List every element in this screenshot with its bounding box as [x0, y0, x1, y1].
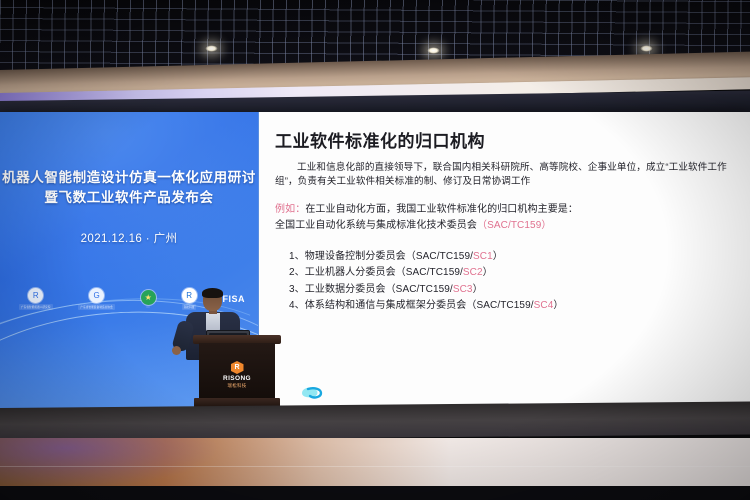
- list-item: 2、工业机器人分委员会（SAC/TC159/SC2）: [289, 265, 736, 281]
- slide-title: 工业软件标准化的归口机构: [275, 127, 736, 152]
- list-name: 工业机器人分委员会: [305, 267, 396, 278]
- list-index: 2、: [289, 267, 305, 278]
- event-title-line2: 暨飞数工业软件产品发布会: [0, 188, 258, 208]
- slide-paragraph: 工业和信息化部的直接领导下，联合国内相关科研院所、高等院校、企事业单位，成立“工…: [275, 161, 736, 189]
- list-code-suffix: ）: [473, 284, 483, 295]
- podium-brand-name: RISONG: [223, 375, 251, 382]
- example-line2-code: （SAC/TC159）: [477, 220, 551, 231]
- presentation-slide: 工业软件标准化的归口机构 工业和信息化部的直接领导下，联合国内相关科研院所、高等…: [258, 112, 750, 412]
- list-item: 1、物理设备控制分委员会（SAC/TC159/SC1）: [289, 249, 736, 265]
- list-code-accent: SC4: [534, 300, 554, 311]
- list-code-accent: SC2: [463, 267, 483, 278]
- stage-foreground-shadow: [0, 486, 750, 500]
- podium-brand: R RISONG 瑞松科技: [223, 361, 251, 389]
- stage-floor-seam: [0, 466, 750, 467]
- stage-floor-light: [0, 438, 220, 488]
- sponsor-caption: 广东省智能装备制造业协会: [78, 304, 114, 310]
- event-title-block: 机器人智能制造设计仿真一体化应用研讨 暨飞数工业软件产品发布会: [0, 168, 258, 208]
- robot-institute-icon: R: [28, 288, 43, 303]
- conference-hall-scene: 机器人智能制造设计仿真一体化应用研讨 暨飞数工业软件产品发布会 2021.12.…: [0, 0, 750, 500]
- list-code-prefix: （SAC/TC159/: [386, 284, 453, 295]
- green-emblem-icon: ★: [141, 290, 156, 305]
- presenter-hair: [202, 288, 223, 298]
- list-code-accent: SC3: [453, 284, 473, 295]
- sponsor-caption: [146, 306, 150, 308]
- list-code-prefix: （SAC/TC159/: [396, 267, 463, 278]
- list-code-prefix: （SAC/TC159/: [466, 300, 533, 311]
- sponsor-logo-item: R 广东省智能机器人研究院: [19, 288, 53, 310]
- list-name: 体系结构和通信与集成框架分委员会: [305, 300, 467, 311]
- list-index: 4、: [289, 300, 305, 311]
- example-line1: 在工业自动化方面，我国工业软件标准化的归口机构主要是：: [305, 204, 578, 215]
- risong-hex-logo-icon: R: [230, 361, 243, 374]
- list-name: 物理设备控制分委员会: [305, 251, 406, 262]
- list-name: 工业数据分委员会: [305, 284, 386, 295]
- podium-brand-sub: 瑞松科技: [227, 383, 246, 389]
- cyan-swoosh-logo-icon: [299, 384, 325, 400]
- list-item: 4、体系结构和通信与集成框架分委员会（SAC/TC159/SC4）: [289, 298, 736, 314]
- presenter-hand: [172, 346, 181, 355]
- list-index: 3、: [289, 284, 305, 295]
- example-line2: 全国工业自动化系统与集成标准化技术委员会（SAC/TC159）: [275, 218, 736, 234]
- list-code-accent: SC1: [473, 251, 493, 262]
- sponsor-logo-item: G 广东省智能装备制造业协会: [78, 288, 114, 310]
- list-index: 1、: [289, 251, 305, 262]
- event-title-line1: 机器人智能制造设计仿真一体化应用研讨: [0, 168, 258, 188]
- stage-skirt: [0, 401, 750, 441]
- slide-example-block: 例如：在工业自动化方面，我国工业软件标准化的归口机构主要是： 全国工业自动化系统…: [275, 202, 736, 233]
- downlight-icon: [640, 45, 653, 52]
- list-code-suffix: ）: [483, 267, 493, 278]
- projection-screen: 机器人智能制造设计仿真一体化应用研讨 暨飞数工业软件产品发布会 2021.12.…: [0, 112, 750, 412]
- podium-body: R RISONG 瑞松科技: [199, 343, 275, 399]
- event-date-location: 2021.12.16 · 广州: [0, 230, 258, 246]
- list-code-suffix: ）: [493, 251, 503, 262]
- example-line2-text: 全国工业自动化系统与集成标准化技术委员会: [275, 220, 477, 231]
- committee-list: 1、物理设备控制分委员会（SAC/TC159/SC1） 2、工业机器人分委员会（…: [275, 249, 736, 315]
- podium: R RISONG 瑞松科技: [193, 335, 281, 415]
- list-code-prefix: （SAC/TC159/: [406, 251, 473, 262]
- sponsor-caption: 广东省智能机器人研究院: [19, 304, 53, 310]
- example-label: 例如：: [275, 204, 305, 215]
- downlight-icon: [427, 47, 440, 54]
- list-item: 3、工业数据分委员会（SAC/TC159/SC3）: [289, 282, 736, 298]
- list-code-suffix: ）: [553, 300, 563, 311]
- equipment-assoc-icon: G: [89, 288, 104, 303]
- sponsor-logo-item: ★: [141, 290, 156, 308]
- downlight-icon: [205, 45, 218, 52]
